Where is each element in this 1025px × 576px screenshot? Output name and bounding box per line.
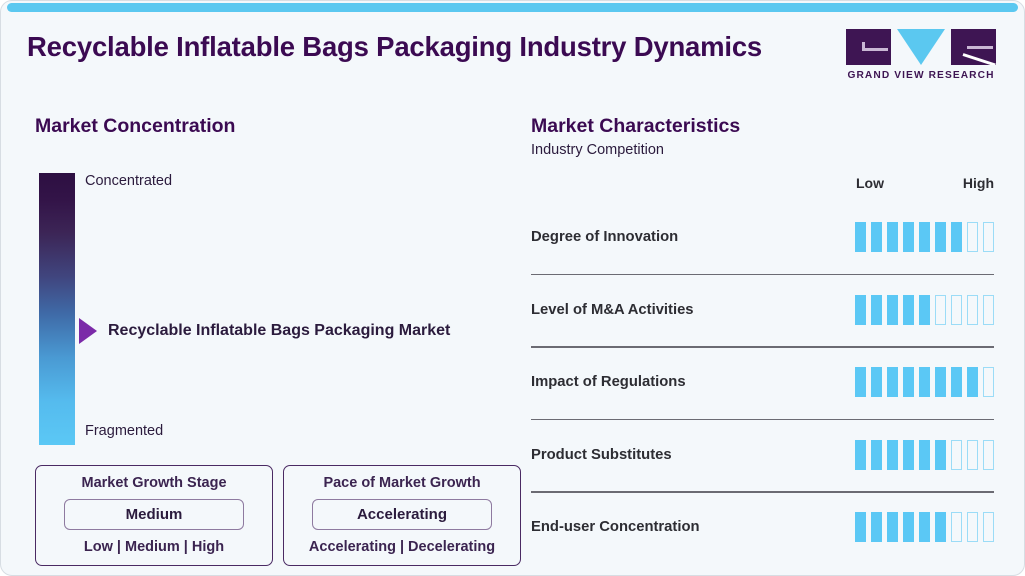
rating-segment-filled	[919, 440, 930, 470]
rating-bar-group	[855, 367, 994, 397]
rating-bar-group	[855, 512, 994, 542]
market-characteristics-title: Market Characteristics	[531, 115, 740, 138]
rating-segment-filled	[887, 367, 898, 397]
market-concentration-title: Market Concentration	[35, 115, 235, 138]
rating-segment-filled	[951, 222, 962, 252]
rating-segment-filled	[903, 367, 914, 397]
characteristic-row: Product Substitutes	[531, 419, 994, 492]
rating-segment-filled	[935, 440, 946, 470]
rating-segment-filled	[871, 222, 882, 252]
rating-bar-group	[855, 440, 994, 470]
rating-segment-filled	[855, 367, 866, 397]
rating-segment-empty	[983, 367, 994, 397]
rating-segment-filled	[919, 512, 930, 542]
pace-of-growth-title: Pace of Market Growth	[294, 475, 510, 491]
concentration-scale	[39, 173, 75, 445]
header: Recyclable Inflatable Bags Packaging Ind…	[1, 15, 1024, 87]
rating-segment-filled	[887, 440, 898, 470]
characteristics-rows: Degree of InnovationLevel of M&A Activit…	[531, 201, 994, 564]
rating-segment-empty	[967, 295, 978, 325]
characteristic-row: End-user Concentration	[531, 491, 994, 564]
rating-segment-empty	[935, 295, 946, 325]
market-concentration-panel: Market Concentration Concentrated Fragme…	[1, 97, 513, 575]
rating-segment-filled	[919, 295, 930, 325]
rating-bar-group	[855, 295, 994, 325]
rating-segment-empty	[967, 440, 978, 470]
rating-segment-filled	[871, 512, 882, 542]
rating-segment-empty	[967, 222, 978, 252]
rating-segment-filled	[871, 367, 882, 397]
rating-segment-filled	[903, 222, 914, 252]
rating-segment-filled	[855, 222, 866, 252]
page-title: Recyclable Inflatable Bags Packaging Ind…	[27, 31, 762, 63]
marker-label: Recyclable Inflatable Bags Packaging Mar…	[108, 322, 450, 340]
pace-of-growth-box: Pace of Market Growth Accelerating Accel…	[283, 465, 521, 566]
logo-wordmark: GRAND VIEW RESEARCH	[846, 70, 996, 81]
market-growth-stage-box: Market Growth Stage Medium Low | Medium …	[35, 465, 273, 566]
rating-segment-empty	[983, 295, 994, 325]
market-growth-stage-options: Low | Medium | High	[46, 539, 262, 555]
rating-segment-filled	[951, 367, 962, 397]
rating-segment-filled	[855, 512, 866, 542]
logo-g-icon	[846, 29, 891, 65]
rating-segment-filled	[855, 295, 866, 325]
rating-segment-empty	[983, 222, 994, 252]
characteristic-label: End-user Concentration	[531, 519, 700, 535]
market-growth-stage-title: Market Growth Stage	[46, 475, 262, 491]
rating-segment-filled	[919, 222, 930, 252]
market-growth-stage-value: Medium	[64, 499, 244, 530]
rating-scale-header: Low High	[531, 175, 994, 193]
rating-segment-filled	[935, 367, 946, 397]
rating-scale-high-label: High	[963, 175, 994, 191]
characteristic-row: Degree of Innovation	[531, 201, 994, 274]
pace-of-growth-options: Accelerating | Decelerating	[294, 539, 510, 555]
characteristic-row: Level of M&A Activities	[531, 274, 994, 347]
marker-arrow-icon	[79, 318, 97, 344]
rating-segment-filled	[903, 512, 914, 542]
rating-segment-empty	[951, 512, 962, 542]
characteristic-label: Degree of Innovation	[531, 229, 678, 245]
logo-r-icon	[951, 29, 996, 65]
rating-segment-empty	[983, 440, 994, 470]
characteristic-label: Product Substitutes	[531, 447, 672, 463]
rating-segment-filled	[887, 295, 898, 325]
infographic-root: Recyclable Inflatable Bags Packaging Ind…	[0, 0, 1025, 576]
pace-of-growth-value: Accelerating	[312, 499, 492, 530]
rating-segment-filled	[887, 512, 898, 542]
logo-marks	[846, 29, 996, 65]
scale-label-concentrated: Concentrated	[85, 173, 172, 189]
market-position-marker: Recyclable Inflatable Bags Packaging Mar…	[79, 318, 450, 344]
characteristic-label: Level of M&A Activities	[531, 302, 694, 318]
rating-segment-filled	[919, 367, 930, 397]
scale-label-fragmented: Fragmented	[85, 423, 163, 439]
rating-segment-filled	[935, 512, 946, 542]
market-characteristics-subtitle: Industry Competition	[531, 142, 664, 158]
logo-v-triangle-icon	[897, 29, 945, 65]
rating-bar-group	[855, 222, 994, 252]
market-characteristics-panel: Market Characteristics Industry Competit…	[513, 97, 1024, 575]
characteristic-row: Impact of Regulations	[531, 346, 994, 419]
brand-logo: GRAND VIEW RESEARCH	[846, 29, 996, 81]
concentration-gradient-bar	[39, 173, 75, 445]
rating-segment-empty	[951, 295, 962, 325]
characteristic-label: Impact of Regulations	[531, 374, 686, 390]
rating-segment-filled	[903, 295, 914, 325]
rating-segment-empty	[951, 440, 962, 470]
rating-segment-empty	[967, 512, 978, 542]
rating-scale-low-label: Low	[856, 175, 884, 191]
rating-segment-empty	[983, 512, 994, 542]
rating-segment-filled	[871, 440, 882, 470]
rating-segment-filled	[903, 440, 914, 470]
top-accent-bar	[7, 3, 1018, 12]
growth-info-boxes: Market Growth Stage Medium Low | Medium …	[35, 465, 521, 566]
rating-segment-filled	[855, 440, 866, 470]
rating-segment-filled	[967, 367, 978, 397]
rating-segment-filled	[887, 222, 898, 252]
rating-segment-filled	[871, 295, 882, 325]
rating-segment-filled	[935, 222, 946, 252]
